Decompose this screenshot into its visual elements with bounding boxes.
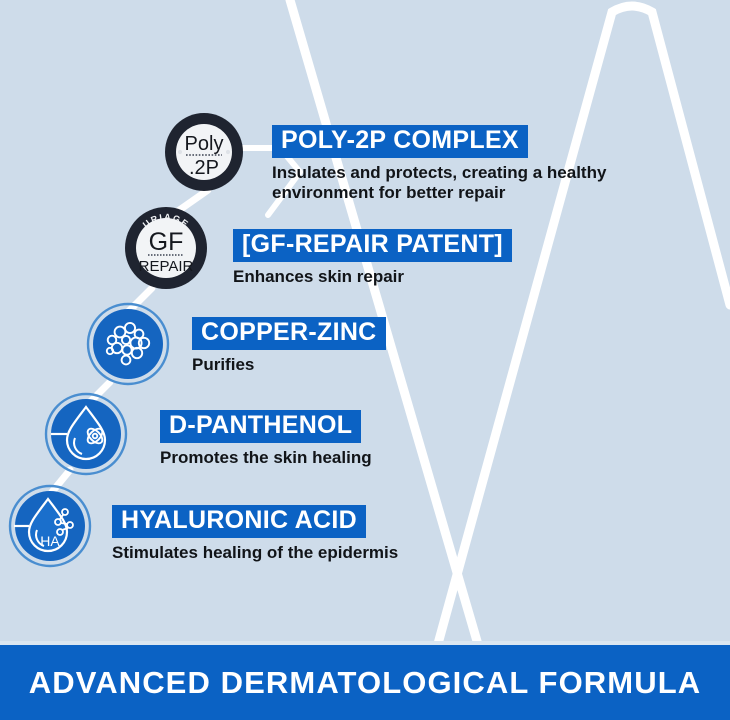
hyaluronic-acid-droplet-icon: HA bbox=[8, 484, 92, 568]
hyaluronic-acid-subtitle: Stimulates healing of the epidermis bbox=[112, 543, 562, 564]
svg-text:HA: HA bbox=[40, 533, 60, 549]
hyaluronic-acid-title: HYALURONIC ACID bbox=[112, 505, 366, 538]
hyaluronic-acid-text-block: HYALURONIC ACID Stimulates healing of th… bbox=[112, 505, 562, 563]
advanced-formula-banner: ADVANCED DERMATOLOGICAL FORMULA bbox=[0, 645, 730, 720]
ingredient-row-hyaluronic-acid: HA HYALURONIC ACID Stimulates healing of… bbox=[0, 0, 730, 720]
hyaluronic-acid-icon-container[interactable]: HA bbox=[8, 484, 92, 568]
ingredient-infographic-poster: Poly .2P POLY-2P COMPLEX Insulates and p… bbox=[0, 0, 730, 720]
banner-text: ADVANCED DERMATOLOGICAL FORMULA bbox=[29, 665, 701, 701]
